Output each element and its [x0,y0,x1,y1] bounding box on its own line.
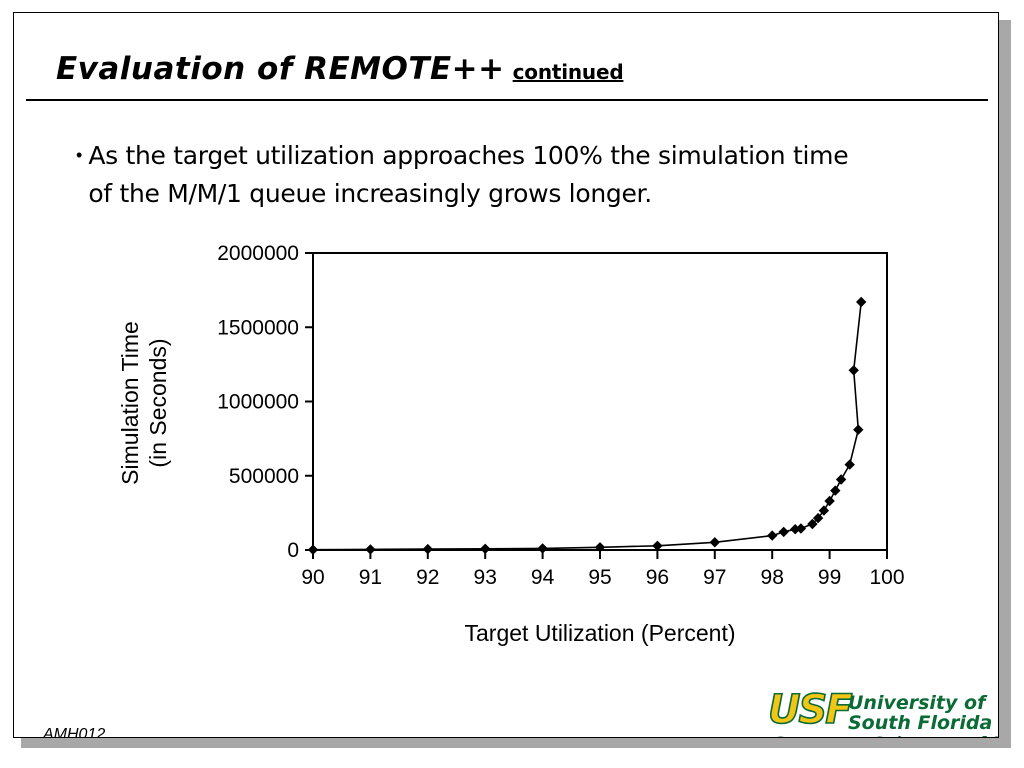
data-point-marker [308,545,318,555]
x-tick-label: 90 [301,566,324,589]
data-point-marker [710,537,720,547]
bullet-line-2: of the M/M/1 queue increasingly grows lo… [88,179,652,208]
x-tick-label: 98 [761,566,784,589]
bullet-line-1: As the target utilization approaches 100… [88,141,848,170]
data-point-marker [845,459,855,469]
x-tick-label: 91 [359,566,382,589]
x-tick-label: 95 [588,566,611,589]
title-main-text: Evaluation of REMOTE++ [56,51,505,87]
usf-monogram: USF [768,687,852,733]
title-continued-text: continued [513,60,624,84]
data-point-marker [480,544,490,554]
data-series-markers [308,297,867,555]
x-tick-label: 96 [646,566,669,589]
data-point-marker [849,365,859,375]
data-point-marker [779,527,789,537]
x-tick-label: 97 [703,566,726,589]
usf-department-line: Computer Science and Engineering [772,734,999,738]
bullet-list: • As the target utilization approaches 1… [76,137,956,213]
plot-frame [313,253,887,550]
usf-university-line: University of [848,692,988,714]
simulation-time-chart: 0500000100000015000002000000 90919293949… [14,223,999,663]
chart-svg: 0500000100000015000002000000 90919293949… [14,223,999,663]
data-point-marker [423,544,433,554]
slide-canvas: Evaluation of REMOTE++continued • As the… [13,12,999,738]
usf-state-line: South Florida [848,712,992,734]
y-tick-label: 1500000 [217,316,299,339]
usf-logo: USF University of South Florida Computer… [766,683,999,738]
x-tick-label: 99 [818,566,841,589]
data-point-marker [830,485,840,495]
list-item: • As the target utilization approaches 1… [76,137,956,213]
footer-code: AMH012 [43,726,105,738]
data-point-marker [836,474,846,484]
data-point-marker [853,425,863,435]
data-point-marker [767,530,777,540]
bullet-marker-icon: • [76,137,82,173]
x-tick-label: 92 [416,566,439,589]
x-axis-ticks: 90919293949596979899100 [301,550,904,589]
x-tick-label: 93 [474,566,497,589]
y-axis-ticks: 0500000100000015000002000000 [217,242,313,562]
slide-title: Evaluation of REMOTE++continued [56,51,623,87]
y-tick-label: 0 [287,539,299,562]
title-divider [26,99,988,101]
data-point-marker [365,544,375,554]
y-tick-label: 500000 [229,465,299,488]
data-series-line [313,302,861,550]
data-point-marker [824,496,834,506]
x-tick-label: 100 [869,566,904,589]
x-tick-label: 94 [531,566,555,589]
y-tick-label: 2000000 [217,242,299,265]
y-axis-title-line-2: (in Seconds) [145,338,171,467]
x-axis-title: Target Utilization (Percent) [465,620,736,646]
y-axis-title-line-1: Simulation Time [117,321,143,485]
data-point-marker [537,543,547,553]
data-point-marker [856,297,866,307]
y-tick-label: 1000000 [217,391,299,414]
